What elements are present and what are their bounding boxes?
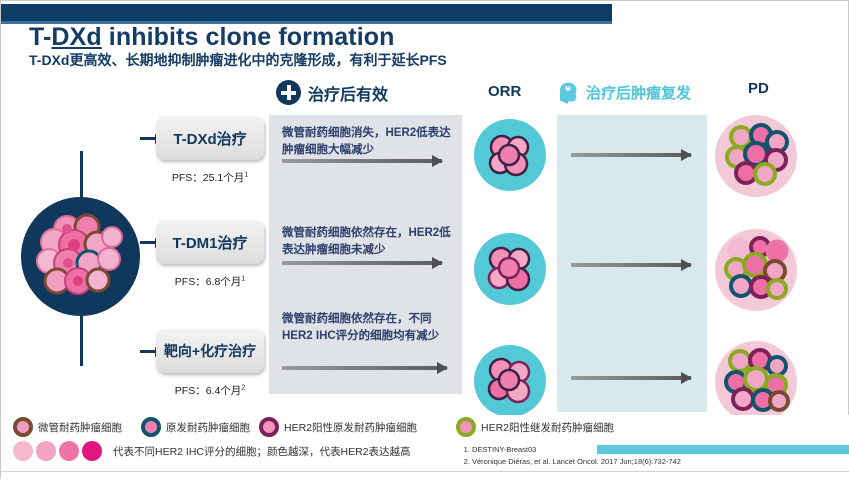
treatment-label-3: 靶向+化疗治疗 — [164, 341, 256, 361]
progress-arrow-1 — [282, 159, 442, 163]
legend-item-2: HER2阳性原发耐药肿瘤细胞 — [259, 417, 417, 437]
gradient-circle-2 — [59, 441, 79, 461]
description-1: 微管耐药细胞消失，HER2低表达肿瘤细胞大幅减少 — [282, 125, 462, 158]
legend-divider — [1, 471, 849, 472]
gradient-circle-3 — [82, 441, 102, 461]
top-navy-bar — [1, 4, 612, 21]
legend: 微管耐药肿瘤细胞 原发耐药肿瘤细胞 HER2阳性原发耐药肿瘤细胞 HER2阳性继… — [1, 415, 849, 480]
treatment-box-2[interactable]: T-DM1治疗 — [156, 220, 264, 264]
pd-cluster-3 — [715, 341, 797, 423]
recurrence-arrow-3 — [571, 376, 691, 380]
progress-arrow-2 — [282, 261, 442, 265]
pfs-text-1: PFS：25.1个月 — [172, 172, 244, 184]
pfs-text-3: PFS：6.4个月 — [175, 385, 242, 397]
legend-label-0: 微管耐药肿瘤细胞 — [38, 420, 122, 435]
legend-item-1: 原发耐药肿瘤细胞 — [141, 417, 250, 437]
treatment-box-3[interactable]: 靶向+化疗治疗 — [156, 329, 264, 373]
header-pd: PD — [748, 80, 769, 97]
pd-cluster-1 — [715, 115, 797, 197]
legend-circle-icon-2 — [259, 417, 279, 437]
orr-cluster-2 — [474, 233, 546, 305]
legend-label-1: 原发耐药肿瘤细胞 — [166, 420, 250, 435]
legend-item-3: HER2阳性继发耐药肿瘤细胞 — [456, 417, 614, 437]
reference-item-0: DESTINY-Breast03 — [472, 444, 681, 456]
gradient-circle-1 — [36, 441, 56, 461]
head-tumor-icon — [557, 81, 581, 104]
header-efficacy: 治疗后有效 — [276, 80, 388, 105]
header-efficacy-label: 治疗后有效 — [308, 81, 388, 105]
legend-gradient-note: 代表不同HER2 IHC评分的细胞；颜色越深，代表HER2表达越高 — [113, 444, 411, 459]
plus-badge-icon — [276, 80, 301, 105]
header-recurrence-label: 治疗后肿瘤复发 — [586, 82, 691, 103]
pfs-sup-1: 1 — [244, 172, 248, 179]
legend-gradient-row: 代表不同HER2 IHC评分的细胞；颜色越深，代表HER2表达越高 — [13, 441, 411, 461]
pfs-sup-3: 2 — [241, 385, 245, 392]
recurrence-arrow-2 — [571, 263, 691, 267]
reference-item-1: Véronique Diéras, et al. Lancet Oncol. 2… — [472, 456, 681, 468]
pfs-value-1: PFS：25.1个月1 — [140, 170, 280, 185]
treatment-label-2: T-DM1治疗 — [172, 232, 247, 253]
treatment-box-1[interactable]: T-DXd治疗 — [156, 116, 264, 160]
recurrence-arrow-1 — [571, 153, 691, 157]
pfs-sup-2: 1 — [241, 276, 245, 283]
orr-cluster-3 — [474, 345, 546, 417]
pfs-value-2: PFS：6.8个月1 — [140, 274, 280, 289]
description-3: 微管耐药细胞依然存在，不同HER2 IHC评分的细胞均有减少 — [282, 311, 462, 344]
header-orr: ORR — [488, 83, 521, 100]
pfs-text-2: PFS：6.8个月 — [175, 276, 242, 288]
legend-label-2: HER2阳性原发耐药肿瘤细胞 — [284, 420, 417, 435]
treatment-label-1: T-DXd治疗 — [173, 128, 246, 149]
header-recurrence: 治疗后肿瘤复发 — [557, 81, 691, 104]
progress-arrow-3 — [282, 366, 447, 370]
legend-circle-icon-3 — [456, 417, 476, 437]
source-tumor-cluster — [21, 197, 140, 316]
slide: T-DXd inhibits clone formation T-DXd更高效、… — [0, 0, 849, 479]
pfs-value-3: PFS：6.4个月2 — [140, 383, 280, 398]
orr-cluster-1 — [474, 119, 546, 191]
legend-circle-icon-1 — [141, 417, 161, 437]
page-title-english: T-DXd inhibits clone formation — [29, 23, 395, 52]
description-2: 微管耐药细胞依然存在，HER2低表达肿瘤细胞未减少 — [282, 225, 462, 258]
legend-circle-icon-0 — [13, 417, 33, 437]
references: DESTINY-Breast03 Véronique Diéras, et al… — [456, 444, 681, 467]
page-title-chinese: T-DXd更高效、长期地抑制肿瘤进化中的克隆形成，有利于延长PFS — [29, 50, 447, 70]
legend-item-0: 微管耐药肿瘤细胞 — [13, 417, 122, 437]
legend-label-3: HER2阳性继发耐药肿瘤细胞 — [481, 420, 614, 435]
gradient-circle-0 — [13, 441, 33, 461]
pd-cluster-2 — [715, 229, 797, 311]
